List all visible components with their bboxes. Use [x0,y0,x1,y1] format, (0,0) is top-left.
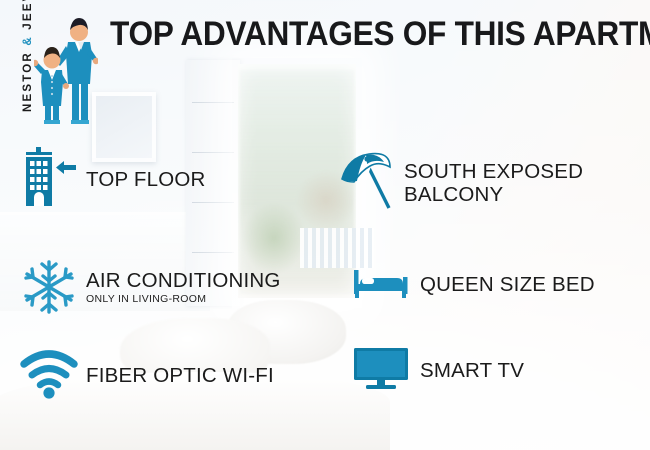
feature-label: FIBER OPTIC WI-FI [86,364,274,387]
feature-sublabel: ONLY IN LIVING-ROOM [86,293,281,306]
brand-logo: NESTOR & JEEVES [8,6,104,138]
feature-label: TOP FLOOR [86,168,206,191]
feature-bed-text: QUEEN SIZE BED [414,273,595,296]
brand-ampersand: & [22,35,34,46]
feature-label: SMART TV [420,359,524,382]
feature-smart-tv: SMART TV [352,346,524,394]
feature-wifi-text: FIBER OPTIC WI-FI [80,364,274,387]
wifi-icon [18,350,80,400]
brand-name-part1: NESTOR [22,51,34,112]
feature-label: SOUTH EXPOSED BALCONY [404,160,614,206]
snowflake-icon [18,256,80,318]
feature-air-conditioning-text: AIR CONDITIONING ONLY IN LIVING-ROOM [80,269,281,306]
beach-parasol-icon [336,150,398,216]
brand-wordmark: NESTOR & JEEVES [22,0,34,112]
feature-top-floor-text: TOP FLOOR [80,168,206,191]
two-butlers-icon [34,6,98,138]
feature-balcony-text: SOUTH EXPOSED BALCONY [398,160,614,206]
apartment-advantages-infographic: NESTOR & JEEVES [0,0,650,450]
building-with-left-arrow-icon [18,146,80,212]
feature-south-exposed-balcony: SOUTH EXPOSED BALCONY [336,150,614,216]
brand-name-part2: JEEVES [22,0,34,30]
feature-label: QUEEN SIZE BED [420,273,595,296]
feature-top-floor: TOP FLOOR [18,146,206,212]
feature-label: AIR CONDITIONING [86,269,281,292]
page-title: TOP ADVANTAGES OF THIS APARTMENT [110,14,575,54]
features-grid: TOP FLOOR SOUTH E [0,142,650,442]
bed-icon [352,264,414,304]
feature-fiber-optic-wifi: FIBER OPTIC WI-FI [18,350,274,400]
television-icon [352,346,414,394]
feature-tv-text: SMART TV [414,359,524,382]
feature-queen-size-bed: QUEEN SIZE BED [352,264,595,304]
feature-air-conditioning: AIR CONDITIONING ONLY IN LIVING-ROOM [18,256,281,318]
